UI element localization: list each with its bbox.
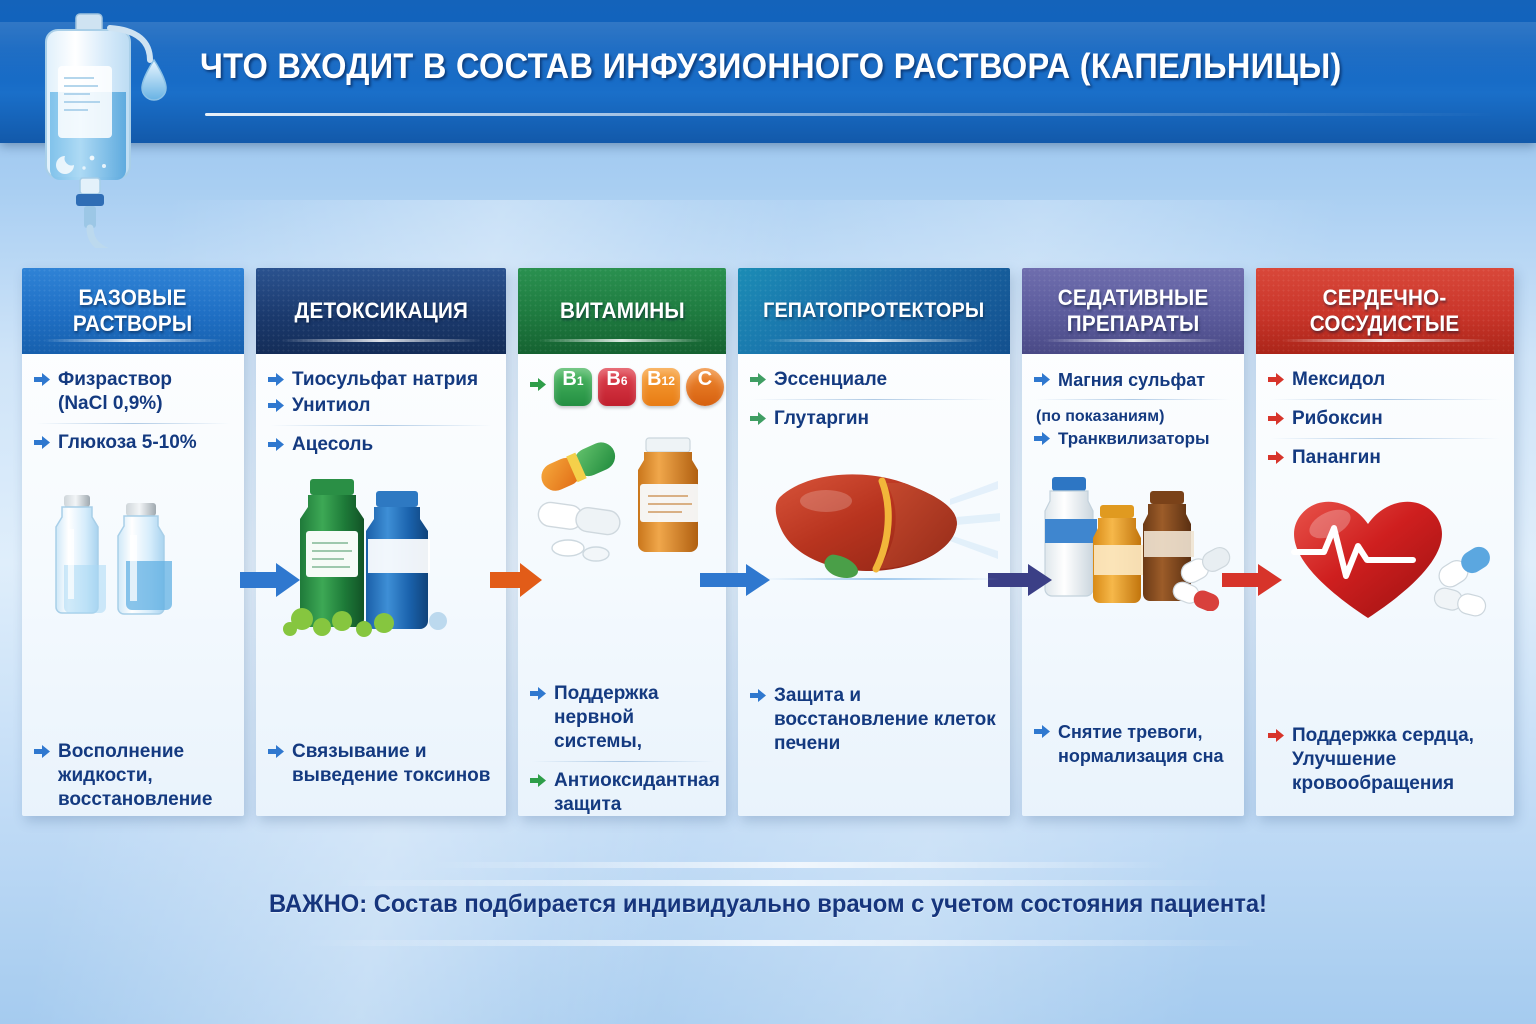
artwork-capsules-and-bottle	[530, 416, 714, 566]
column-summary-cardiovascular: Поддержка сердца, Улучшение кровообращен…	[1268, 724, 1504, 798]
arrow-right-icon	[1034, 372, 1051, 392]
item-label: Физраствор	[58, 369, 172, 390]
badge-sub: 6	[621, 374, 628, 388]
footer-streak-mid	[330, 880, 1230, 886]
column-header-vitamins: ВИТАМИНЫ	[518, 268, 726, 354]
column-header-sedatives: СЕДАТИВНЫЕ ПРЕПАРАТЫ	[1022, 268, 1244, 354]
header-underline	[205, 113, 1495, 116]
iv-drip-bag-icon	[18, 8, 208, 248]
page-title: ЧТО ВХОДИТ В СОСТАВ ИНФУЗИОННОГО РАСТВОР…	[200, 47, 1409, 87]
item-label: Эссенциале	[774, 368, 887, 392]
column-base-solutions[interactable]: БАЗОВЫЕ РАСТВОРЫ Физраствор (NaCl 0,9%)	[22, 268, 244, 816]
column-title: ВИТАМИНЫ	[560, 298, 685, 324]
column-body-cardiovascular: Мексидол Рибоксин Панангин	[1256, 354, 1514, 640]
footer-streak-bottom	[300, 940, 1260, 946]
column-summary-vitamins: Поддержка нервной системы, Антиоксидантн…	[530, 682, 716, 816]
divider	[1036, 399, 1230, 400]
flow-connector-line	[760, 578, 1000, 580]
column-summary-hepatoprotectors: Защита и восстановление клеток печени	[750, 684, 1000, 758]
column-body-detox: Тиосульфат натрия Унитиол Ацесоль	[256, 354, 506, 654]
badge-label: B	[562, 368, 576, 391]
vitamin-badge-b1: B1	[554, 368, 592, 406]
item-label-secondary: (NaCl 0,9%)	[58, 393, 163, 414]
arrow-right-icon	[1268, 372, 1285, 392]
list-item[interactable]: Эссенциале	[750, 368, 998, 392]
summary-text: Поддержка нервной системы,	[554, 682, 716, 754]
arrow-right-icon	[750, 411, 767, 431]
list-item[interactable]: Рибоксин	[1268, 407, 1502, 431]
arrow-right-icon	[530, 377, 547, 397]
arrow-right-icon	[268, 437, 285, 457]
flow-arrow-hepatoprotectors-to-sedatives	[988, 560, 1062, 600]
arrow-right-icon	[750, 688, 767, 708]
artwork-heart-with-ecg	[1268, 480, 1502, 630]
badge-label: B	[606, 368, 620, 391]
column-cardiovascular[interactable]: СЕРДЕЧНО- СОСУДИСТЫЕ Мексидол Ри	[1256, 268, 1514, 816]
flow-arrow-sedatives-to-cardiovascular	[1222, 560, 1292, 600]
summary-text: Связывание и выведение токсинов	[292, 740, 496, 788]
flow-arrow-base-to-detox	[240, 560, 312, 600]
arrow-right-icon	[268, 744, 285, 764]
list-item[interactable]: Тиосульфат натрия	[268, 368, 494, 392]
footer-note: ВАЖНО: Состав подбирается индивидуально …	[38, 890, 1497, 919]
badge-sub: 1	[577, 374, 584, 388]
list-item[interactable]: Ацесоль	[268, 433, 494, 457]
summary-text: Защита и восстановление клеток печени	[774, 684, 1000, 756]
summary-text: Восполнение жидкости, восстановление эле…	[58, 740, 234, 816]
footer-streak-top	[430, 862, 1170, 868]
arrow-right-icon	[268, 398, 285, 418]
column-title-line2: СОСУДИСТЫЕ	[1310, 311, 1460, 336]
column-title: ГЕПАТОПРОТЕКТОРЫ	[763, 298, 984, 324]
list-item[interactable]: Панангин	[1268, 446, 1502, 470]
item-label: Панангин	[1292, 446, 1381, 470]
item-label: Магния сульфат	[1058, 368, 1205, 392]
item-label: Глутаргин	[774, 407, 869, 431]
summary-text: Снятие тревоги, нормализация сна	[1058, 720, 1234, 768]
arrow-right-icon	[34, 435, 51, 455]
flow-arrow-vitamins-to-hepatoprotectors	[700, 560, 782, 600]
column-title: ДЕТОКСИКАЦИЯ	[294, 298, 468, 324]
arrow-right-icon	[530, 686, 547, 706]
summary-text-secondary: Антиоксидантная защита	[554, 769, 720, 816]
column-vitamins[interactable]: ВИТАМИНЫ B1 B6	[518, 268, 726, 816]
column-header-base-solutions: БАЗОВЫЕ РАСТВОРЫ	[22, 268, 244, 354]
column-hepatoprotectors[interactable]: ГЕПАТОПРОТЕКТОРЫ Эссенциале Глутаргин	[738, 268, 1010, 816]
column-body-base-solutions: Физраствор (NaCl 0,9%) Глюкоза 5-10%	[22, 354, 244, 629]
item-label: Мексидол	[1292, 368, 1385, 392]
column-detox[interactable]: ДЕТОКСИКАЦИЯ Тиосульфат натрия Унитиол	[256, 268, 506, 816]
column-header-detox: ДЕТОКСИКАЦИЯ	[256, 268, 506, 354]
column-title-line1: СЕРДЕЧНО-	[1323, 285, 1447, 310]
list-item[interactable]: Унитиол	[268, 394, 494, 418]
vitamin-badge-b6: B6	[598, 368, 636, 406]
column-title-line1: БАЗОВЫЕ	[79, 285, 187, 310]
column-summary-detox: Связывание и выведение токсинов	[268, 740, 496, 790]
list-item[interactable]: Транквилизаторы	[1034, 427, 1232, 451]
column-summary-sedatives: Снятие тревоги, нормализация сна	[1034, 720, 1234, 770]
divider	[532, 761, 714, 762]
list-item[interactable]: Физраствор (NaCl 0,9%)	[34, 368, 232, 416]
item-note: (по показаниям)	[1036, 407, 1232, 427]
artwork-two-glass-vials	[34, 469, 232, 619]
arrow-right-icon	[1268, 450, 1285, 470]
vitamin-badge-c: C	[686, 368, 724, 406]
arrow-right-icon	[530, 773, 547, 793]
column-title-line1: СЕДАТИВНЫЕ	[1058, 285, 1209, 310]
arrow-right-icon	[34, 372, 51, 392]
item-label: Рибоксин	[1292, 407, 1383, 431]
column-header-hepatoprotectors: ГЕПАТОПРОТЕКТОРЫ	[738, 268, 1010, 354]
list-item[interactable]: Глутаргин	[750, 407, 998, 431]
category-columns: БАЗОВЫЕ РАСТВОРЫ Физраствор (NaCl 0,9%)	[0, 268, 1536, 828]
arrow-right-icon	[1034, 724, 1051, 744]
item-label: Унитиол	[292, 394, 370, 418]
infographic-canvas: ЧТО ВХОДИТ В СОСТАВ ИНФУЗИОННОГО РАСТВОР…	[0, 0, 1536, 1024]
arrow-right-icon	[1034, 431, 1051, 451]
item-label: Тиосульфат натрия	[292, 368, 478, 392]
divider	[270, 425, 492, 426]
badge-label: B	[647, 368, 661, 391]
artwork-assorted-medicine-bottles	[1034, 461, 1232, 611]
summary-text: Поддержка сердца, Улучшение кровообращен…	[1292, 724, 1504, 796]
artwork-liver-organ	[750, 443, 998, 593]
vitamin-badge-row[interactable]: B1 B6 B12 C	[530, 368, 714, 406]
column-title-line2: РАСТВОРЫ	[73, 311, 192, 336]
column-summary-base-solutions: Восполнение жидкости, восстановление эле…	[34, 740, 234, 816]
column-body-vitamins: B1 B6 B12 C	[518, 354, 726, 576]
item-label: Ацесоль	[292, 433, 373, 457]
divider	[36, 423, 230, 424]
column-title-line2: ПРЕПАРАТЫ	[1067, 311, 1200, 336]
badge-sub: 12	[662, 374, 675, 388]
arrow-right-icon	[1268, 728, 1285, 748]
vitamin-badge-b12: B12	[642, 368, 680, 406]
divider	[1270, 399, 1500, 400]
list-item[interactable]: Магния сульфат	[1034, 368, 1232, 392]
arrow-right-icon	[268, 372, 285, 392]
column-header-cardiovascular: СЕРДЕЧНО- СОСУДИСТЫЕ	[1256, 268, 1514, 354]
list-item[interactable]: Глюкоза 5-10%	[34, 431, 232, 455]
arrow-right-icon	[34, 744, 51, 764]
arrow-right-icon	[750, 372, 767, 392]
badge-label: C	[698, 368, 712, 391]
flow-arrow-detox-to-vitamins	[490, 560, 552, 600]
column-sedatives[interactable]: СЕДАТИВНЫЕ ПРЕПАРАТЫ Магния сульфат (по …	[1022, 268, 1244, 816]
header-bar: ЧТО ВХОДИТ В СОСТАВ ИНФУЗИОННОГО РАСТВОР…	[0, 0, 1536, 143]
item-label: Транквилизаторы	[1058, 427, 1210, 451]
divider	[1270, 438, 1500, 439]
artwork-green-blue-bottles	[268, 469, 494, 644]
item-label: Глюкоза 5-10%	[58, 431, 197, 455]
arrow-right-icon	[1268, 411, 1285, 431]
list-item[interactable]: Мексидол	[1268, 368, 1502, 392]
divider	[752, 399, 996, 400]
